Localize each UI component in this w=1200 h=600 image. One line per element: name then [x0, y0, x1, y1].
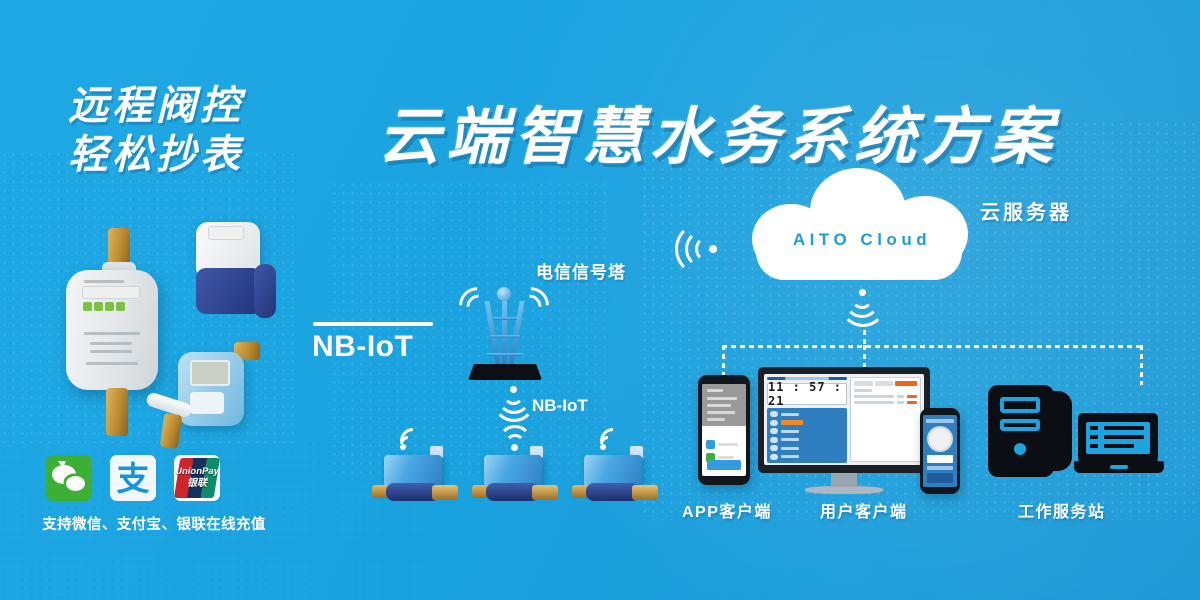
product-nb-iot-meter [178, 222, 308, 352]
server-tower-bay-2 [1000, 419, 1040, 431]
cloud-server-graphic: AITO Cloud [742, 168, 982, 288]
list-item [770, 454, 844, 460]
poster-canvas: 远程阀控 轻松抄表 云端智慧水务系统方案 [0, 0, 1200, 600]
page-title: 云端智慧水务系统方案 [378, 86, 1058, 176]
node-label-user-client: 用户客户端 [820, 498, 908, 522]
meter-lcd [190, 360, 230, 386]
meter-label-line-1 [84, 332, 140, 335]
cloud-server-label: 云服务器 [980, 196, 1072, 225]
monitor-foot [805, 486, 883, 494]
bus-horizontal [722, 345, 1142, 348]
list-item [770, 437, 844, 443]
meter-outlet [632, 485, 658, 500]
laptop-content-bullets [1090, 426, 1098, 448]
list-item [770, 420, 844, 426]
kicker-text: 远程阀控 轻松抄表 [68, 82, 308, 180]
bus-drop-workstation [1140, 345, 1143, 385]
app-client-phone [698, 375, 750, 485]
meter-outlet [432, 485, 458, 500]
table-row [854, 401, 917, 404]
alipay-icon[interactable]: 支 [110, 455, 156, 501]
laptop-content-line-2 [1104, 435, 1144, 439]
mobile-meter-reader-screen [923, 415, 957, 487]
monitor-bezel: 11 : 57 : 21 [758, 367, 930, 473]
field-meter-3 [578, 455, 654, 511]
app-screen-header [702, 384, 746, 426]
meter-dial-graphic [927, 426, 953, 452]
laptop-trackpad [1110, 465, 1128, 469]
payment-caption: 支持微信、支付宝、银联在线充值 [24, 513, 284, 534]
cloud-downlink-wifi-icon [840, 288, 886, 332]
meter-outlet-pipe [160, 413, 183, 449]
dashboard-device-list [767, 408, 847, 463]
meter-valve-body [196, 268, 262, 314]
field-meter-2 [478, 455, 554, 511]
meter-label-line-2 [90, 342, 132, 345]
user-client-monitor: 11 : 57 : 21 [758, 367, 930, 499]
laptop-content-line-3 [1104, 444, 1134, 448]
server-tower-bay-1 [1000, 397, 1040, 413]
meter-label-line-4 [86, 362, 138, 365]
bus-drop-app [722, 345, 725, 375]
tower-label: 电信信号塔 [536, 258, 626, 283]
mobile-meter-reader [920, 408, 960, 494]
tower-cross-3 [487, 353, 523, 356]
bus-drop-monitor [863, 345, 866, 367]
kicker-line-1: 远程阀控 [68, 82, 308, 131]
monitor-neck [831, 471, 857, 487]
alipay-glyph: 支 [117, 462, 150, 495]
meter-module [208, 226, 244, 240]
field-meter-1 [378, 455, 454, 511]
app-submit-button[interactable] [707, 460, 741, 470]
meter-outlet [532, 485, 558, 500]
table-row [854, 395, 917, 398]
dashboard-tabbar[interactable] [854, 381, 917, 386]
unionpay-brand-en: UnionPay [175, 467, 219, 478]
dashboard-right-pane [850, 377, 921, 462]
server-tower-power-led [1014, 443, 1026, 455]
meter-display-line [84, 280, 124, 283]
nbiot-label-secondary: NB-IoT [532, 396, 588, 416]
field-meter-2-wifi-icon [498, 420, 532, 452]
meter-label-line-3 [90, 350, 132, 353]
bus-drop-from-cloud [863, 330, 866, 346]
field-meter-3-wifi-icon [598, 422, 630, 452]
meter-display [82, 286, 140, 299]
node-label-app-client: APP客户端 [682, 498, 772, 522]
server-tower-side-panel [1050, 391, 1072, 471]
list-item [770, 428, 844, 434]
nbiot-label-primary: NB-IoT [312, 330, 413, 364]
tower-cross-2 [490, 335, 520, 338]
node-label-workstation: 工作服务站 [1018, 498, 1106, 522]
nbiot-rule [313, 322, 433, 326]
wechat-icon[interactable] [46, 455, 92, 501]
list-item [770, 445, 844, 451]
laptop-icon [1074, 413, 1164, 475]
monitor-screen: 11 : 57 : 21 [764, 374, 924, 465]
uplink-wifi-icon [665, 223, 721, 277]
payment-methods: 支 UnionPay 银联 [46, 455, 220, 501]
laptop-content-line-1 [1104, 426, 1144, 430]
tower-cross-1 [493, 317, 517, 320]
table-row [854, 389, 917, 392]
wechat-bubble-small [66, 476, 85, 491]
dashboard-left-pane: 11 : 57 : 21 [767, 377, 847, 462]
meter-indicator-cells [83, 302, 125, 311]
product-prepaid-ic-meter [150, 340, 300, 450]
list-item [770, 411, 844, 417]
dashboard-clock: 11 : 57 : 21 [767, 383, 847, 405]
field-meter-1-wifi-icon [398, 422, 430, 452]
workstation-graphic [988, 385, 1164, 491]
unionpay-wordmark: UnionPay 银联 [174, 455, 220, 501]
unionpay-brand-cn: 银联 [187, 478, 207, 490]
unionpay-icon[interactable]: UnionPay 银联 [174, 455, 220, 501]
tower-base [468, 364, 542, 380]
meter-outlet-pipe [106, 388, 128, 436]
cloud-label: AITO Cloud [742, 230, 982, 250]
app-wechat-option-icon[interactable] [706, 440, 715, 449]
kicker-line-2: 轻松抄表 [68, 131, 308, 180]
meter-outlet-stub [254, 264, 276, 318]
meter-dial [190, 392, 224, 414]
app-client-screen [702, 384, 746, 476]
